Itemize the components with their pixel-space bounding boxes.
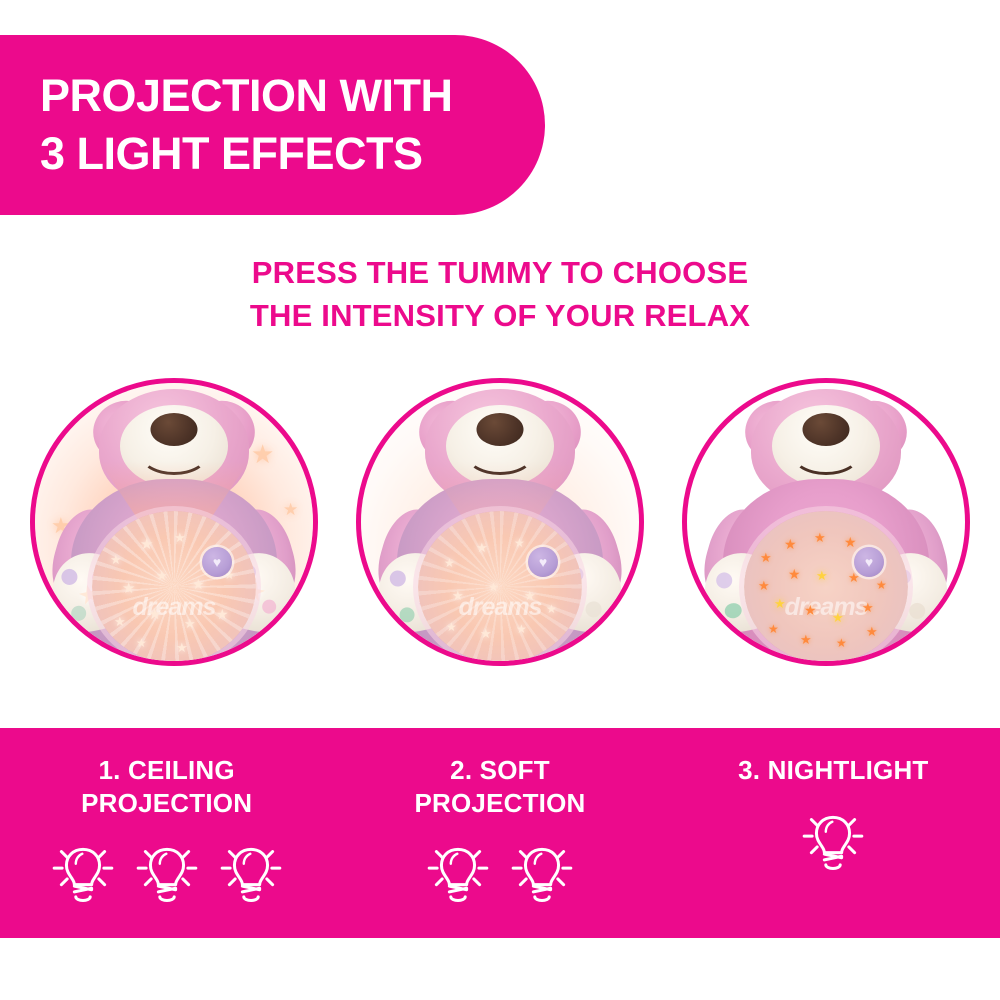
bulb-rating-2 [422,835,578,907]
mode-column-nightlight[interactable]: 3. NIGHTLIGHT [667,728,1000,938]
projected-star: ★ [216,607,229,621]
heart-button[interactable]: ♥ [202,547,232,577]
product-circle-nightlight: dreams ★ ★ ★ ★ ★ ★ ★ ★ ★ ★ ★ ★ ★ ★ ★ ★ [682,378,970,666]
lightbulb-icon [422,835,494,907]
projected-star: ★ [514,537,525,549]
projected-star: ★ [866,625,878,638]
bear-muzzle [772,405,880,487]
projected-star: ★ [876,579,887,591]
paw-pad-dot [388,569,407,588]
bulb-rating-1 [47,835,287,907]
product-image-row: ★ ★ ★ ★ ★ ★ ★ [0,378,1000,673]
projected-star: ★ [814,531,826,544]
plush-bear-toy: ★ ★ dreams ★ ★ ★ ★ ★ ★ [35,383,313,661]
mode-column-ceiling-projection[interactable]: 1. CEILING PROJECTION [0,728,333,938]
projected-star: ★ [800,633,812,646]
light-modes-bar: 1. CEILING PROJECTION [0,728,1000,938]
product-circle-ceiling-projection: ★ ★ ★ ★ ★ ★ ★ [30,378,318,666]
projected-star: ★ [774,597,786,610]
paw-pad-dot [908,601,927,620]
projected-star: ★ [148,607,161,622]
lightbulb-icon [797,803,869,875]
projected-star: ★ [122,581,135,596]
projected-star: ★ [844,535,857,549]
subtitle-block: PRESS THE TUMMY TO CHOOSE THE INTENSITY … [0,252,1000,338]
projected-star: ★ [452,589,464,602]
product-circle-soft-projection: ★ dreams ★ ★ ★ ★ ★ ★ ★ [356,378,644,666]
mode-label-2: 2. SOFT PROJECTION [414,754,585,819]
bulb-rating-3 [797,803,869,875]
tummy-projector-screen[interactable]: dreams ★ ★ ★ ★ ★ ★ ★ ★ ★ ★ ★ ♥ [418,511,582,661]
paw-pad-dot [723,602,743,620]
lightbulb-icon [506,835,578,907]
projected-star: ★ [862,601,874,614]
projected-star: ★ [476,541,488,554]
projected-star: ★ [110,553,122,566]
projected-star: ★ [760,551,772,564]
tummy-projector-screen[interactable]: dreams ★ ★ ★ ★ ★ ★ ★ ★ ★ ★ ★ ★ ★ ★ ★ ★ [744,511,908,661]
product-photo-1: ★ ★ ★ ★ ★ ★ ★ [35,383,313,661]
paw-pad-dot [584,600,603,619]
projected-star: ★ [184,617,196,630]
projected-star: ★ [446,621,457,633]
header-title-line-2: 3 LIGHT EFFECTS [40,125,545,183]
projected-star: ★ [114,615,126,628]
projected-star: ★ [546,603,557,615]
projected-star: ★ [524,589,536,602]
lightbulb-icon [131,835,203,907]
projected-star: ★ [480,627,492,640]
heart-button[interactable]: ♥ [528,547,558,577]
projected-star: ★ [136,637,147,649]
product-photo-3: dreams ★ ★ ★ ★ ★ ★ ★ ★ ★ ★ ★ ★ ★ ★ ★ ★ [687,383,965,661]
projected-star: ★ [488,581,499,593]
mode-label-3: 3. NIGHTLIGHT [738,754,928,787]
projected-star: ★ [444,557,455,569]
lightbulb-icon [47,835,119,907]
projected-star: ★ [516,623,527,635]
product-photo-2: ★ dreams ★ ★ ★ ★ ★ ★ ★ [361,383,639,661]
projected-star: ★ [192,577,205,591]
header-banner: PROJECTION WITH 3 LIGHT EFFECTS [0,35,545,215]
bear-smile [792,435,860,475]
projected-star: ★ [816,569,828,582]
projected-star: ★ [156,569,168,582]
mode-column-soft-projection[interactable]: 2. SOFT PROJECTION [333,728,666,938]
projected-star: ★ [758,579,770,592]
tummy-projector-screen[interactable]: dreams ★ ★ ★ ★ ★ ★ ★ ★ ★ ★ ★ ★ ★ ★ ♥ [92,511,256,661]
projected-star: ★ [788,567,801,581]
light-rays [418,511,582,661]
paw-pad-dot [715,571,734,590]
projected-star: ★ [768,623,779,635]
projected-star: ★ [832,611,844,624]
projected-star: ★ [140,537,153,552]
plush-bear-toy: ★ dreams ★ ★ ★ ★ ★ ★ ★ [361,383,639,661]
header-title-line-1: PROJECTION WITH [40,67,545,125]
lightbulb-icon [215,835,287,907]
projected-star: ★ [804,603,817,617]
subtitle-line-2: THE INTENSITY OF YOUR RELAX [0,295,1000,338]
plush-bear-toy: dreams ★ ★ ★ ★ ★ ★ ★ ★ ★ ★ ★ ★ ★ ★ ★ ★ [687,383,965,661]
projected-star: ★ [784,537,797,551]
projected-star: ★ [176,641,188,654]
projected-star: ★ [174,531,186,544]
subtitle-line-1: PRESS THE TUMMY TO CHOOSE [0,252,1000,295]
mode-label-1: 1. CEILING PROJECTION [81,754,252,819]
paw-pad-dot [398,606,416,624]
projected-star: ★ [836,637,847,649]
heart-button[interactable]: ♥ [854,547,884,577]
